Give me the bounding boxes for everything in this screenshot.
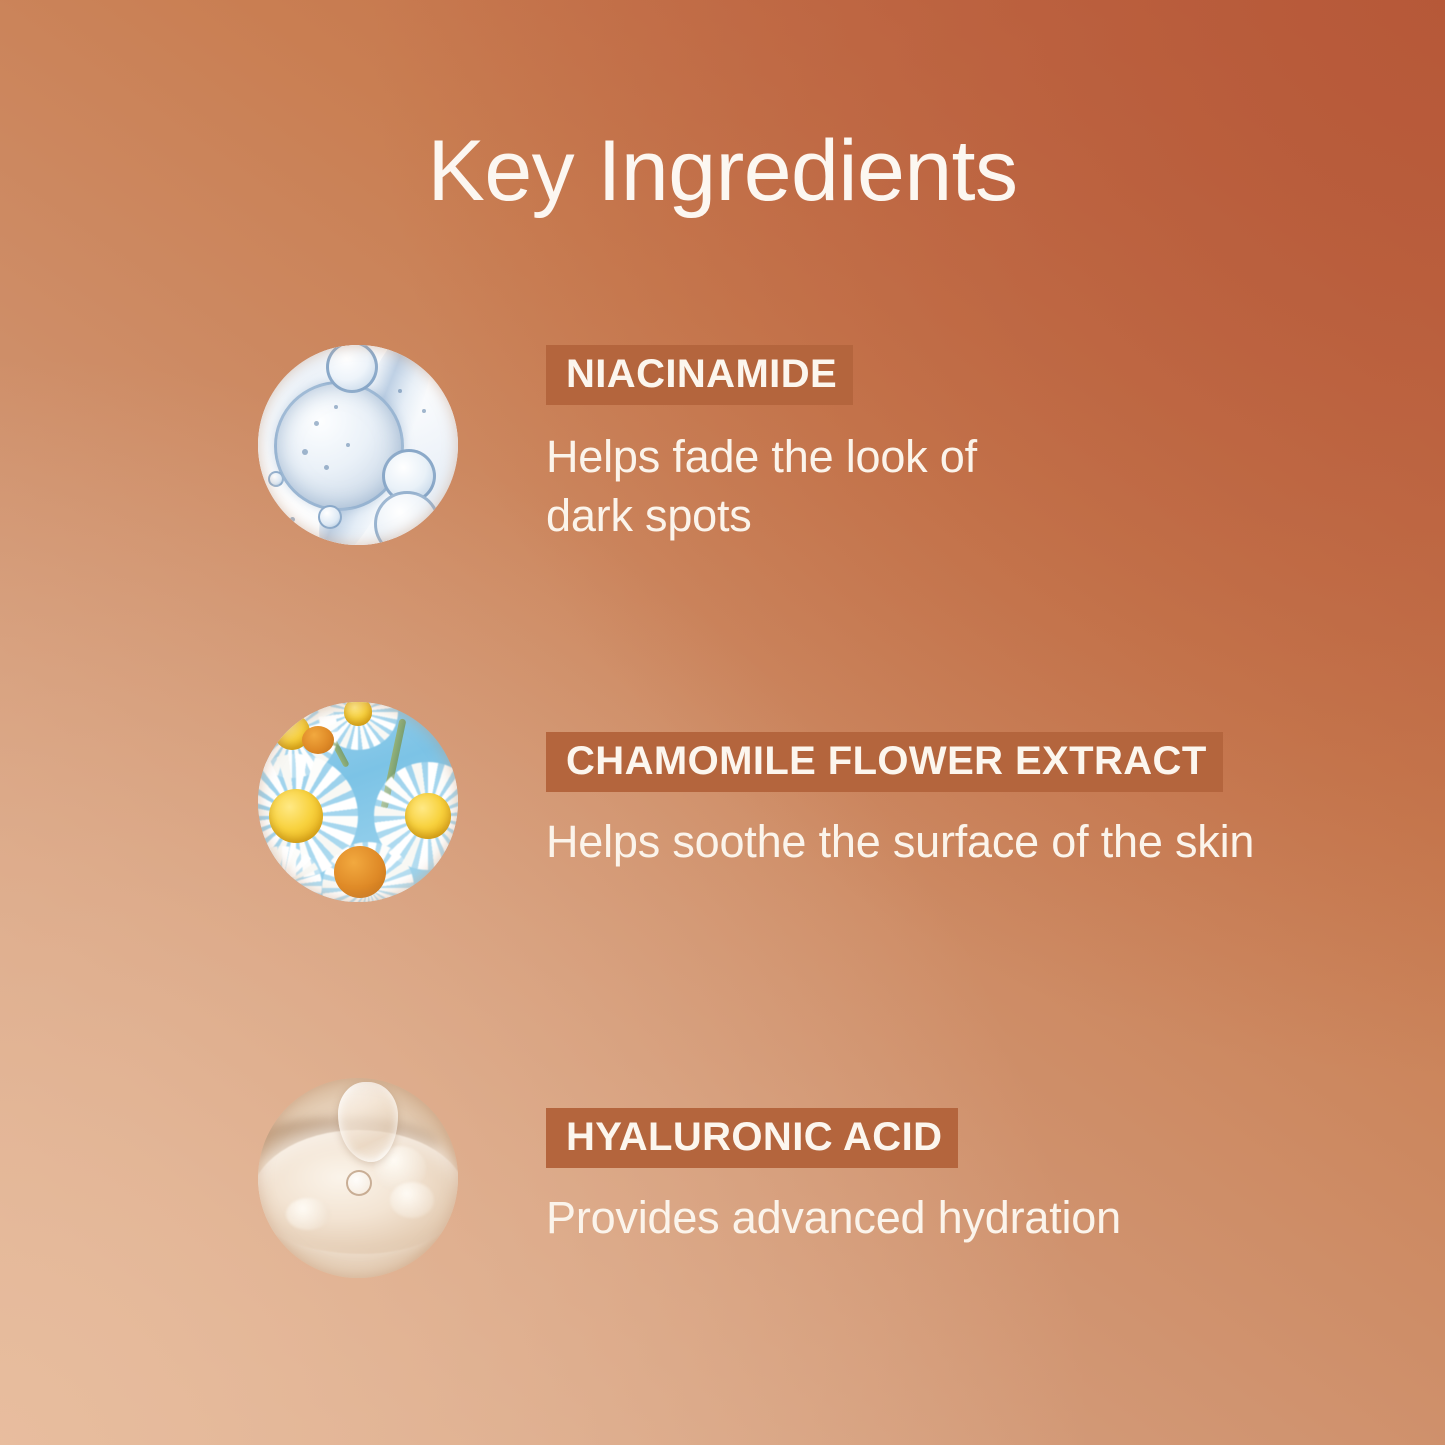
hyaluronic-gel-image bbox=[258, 1078, 458, 1278]
gel-blob bbox=[390, 1182, 434, 1218]
ingredient-description: Provides advanced hydration bbox=[546, 1188, 1121, 1247]
gel-bubble-right-lower bbox=[374, 491, 440, 545]
ingredient-description: Helps fade the look of dark spots bbox=[546, 427, 1006, 546]
hyaluronic-gel-graphic bbox=[258, 1078, 458, 1278]
key-ingredients-poster: Key Ingredients bbox=[0, 0, 1445, 1445]
ingredient-row-chamomile: CHAMOMILE FLOWER EXTRACT Helps soothe th… bbox=[0, 697, 1445, 907]
chamomile-bud bbox=[302, 726, 334, 754]
chamomile-flowers-image bbox=[258, 702, 458, 902]
flower-core bbox=[405, 793, 450, 838]
gel-bubbles-graphic bbox=[258, 345, 458, 545]
gel-bubble-small-2 bbox=[268, 471, 284, 487]
ingredient-text-hyaluronic-acid: HYALURONIC ACID Provides advanced hydrat… bbox=[546, 1108, 1445, 1247]
ingredient-name-badge: CHAMOMILE FLOWER EXTRACT bbox=[546, 732, 1223, 792]
gel-speck bbox=[346, 443, 350, 447]
gel-ripple-ring bbox=[346, 1170, 372, 1196]
gel-speck bbox=[314, 421, 319, 426]
chamomile-bud bbox=[334, 846, 386, 898]
gel-bubble-small-1 bbox=[318, 505, 342, 529]
blue-gel-bubbles-image bbox=[258, 345, 458, 545]
gel-speck bbox=[334, 405, 338, 409]
ingredient-row-hyaluronic-acid: HYALURONIC ACID Provides advanced hydrat… bbox=[0, 1073, 1445, 1283]
chamomile-graphic bbox=[258, 702, 458, 902]
ingredient-row-niacinamide: NIACINAMIDE Helps fade the look of dark … bbox=[0, 340, 1445, 550]
ingredient-description: Helps soothe the surface of the skin bbox=[546, 812, 1254, 871]
ingredient-text-niacinamide: NIACINAMIDE Helps fade the look of dark … bbox=[546, 345, 1445, 546]
gel-speck bbox=[398, 389, 402, 393]
gel-bubble-large bbox=[274, 381, 404, 511]
gel-speck bbox=[324, 465, 329, 470]
gel-speck bbox=[422, 409, 426, 413]
ingredient-name-badge: NIACINAMIDE bbox=[546, 345, 853, 405]
gel-speck bbox=[290, 517, 295, 522]
gel-speck bbox=[302, 449, 308, 455]
ingredient-text-chamomile: CHAMOMILE FLOWER EXTRACT Helps soothe th… bbox=[546, 732, 1445, 871]
flower-core bbox=[269, 789, 324, 844]
gel-blob bbox=[286, 1198, 330, 1230]
ingredient-name-badge: HYALURONIC ACID bbox=[546, 1108, 958, 1168]
page-title: Key Ingredients bbox=[0, 128, 1445, 214]
